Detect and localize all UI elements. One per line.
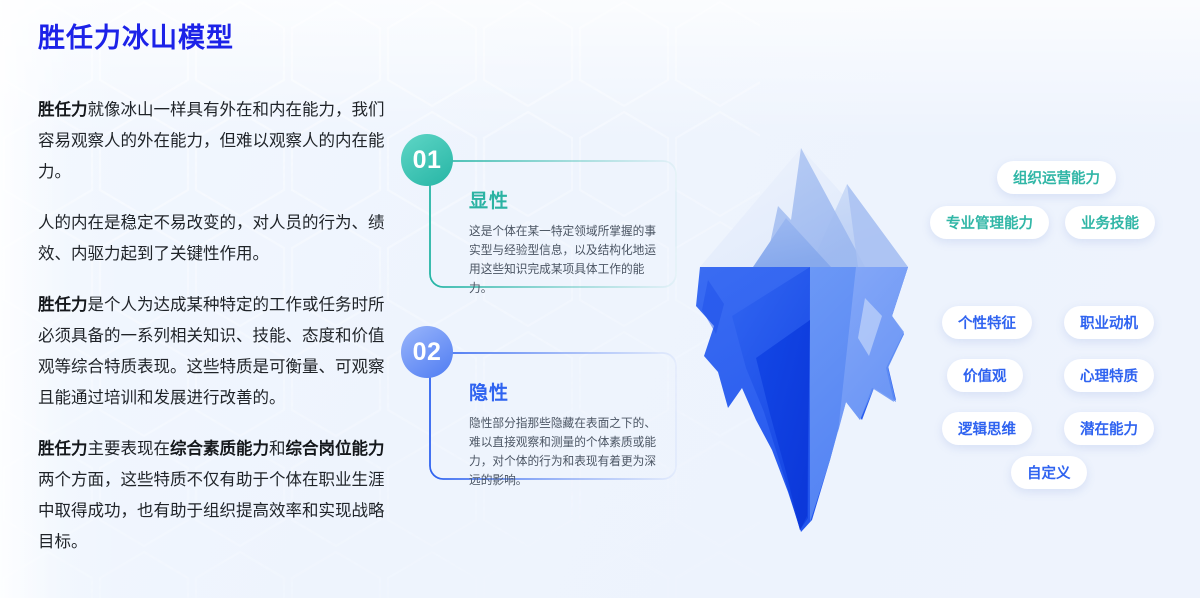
paragraph-4-lead: 胜任力 xyxy=(38,440,88,458)
tag-explicit-2[interactable]: 业务技能 xyxy=(1065,206,1155,239)
implicit-competency-card[interactable]: 02 隐性 隐性部分指那些隐藏在表面之下的、难以直接观察和测量的个体素质或能力，… xyxy=(429,352,677,480)
paragraph-1-lead: 胜任力 xyxy=(38,101,88,119)
paragraph-3-lead: 胜任力 xyxy=(38,296,88,314)
card-text-explicit: 这是个体在某一特定领域所掌握的事实型与经验型信息，以及结构化地运用这些知识完成某… xyxy=(469,222,659,298)
tag-implicit-5[interactable]: 潜在能力 xyxy=(1064,412,1154,445)
tag-explicit-0[interactable]: 组织运营能力 xyxy=(997,161,1116,194)
card-text-implicit: 隐性部分指那些隐藏在表面之下的、难以直接观察和测量的个体素质或能力，对个体的行为… xyxy=(469,414,659,490)
explicit-competency-card[interactable]: 01 显性 这是个体在某一特定领域所掌握的事实型与经验型信息，以及结构化地运用这… xyxy=(429,160,677,288)
paragraph-2-body: 人的内在是稳定不易改变的，对人员的行为、绩效、内驱力起到了关键性作用。 xyxy=(38,214,385,263)
iceberg-below-water xyxy=(696,267,908,532)
paragraph-3-body: 是个人为达成某种特定的工作或任务时所必须具备的一系列相关知识、技能、态度和价值观… xyxy=(38,296,385,407)
tag-implicit-2[interactable]: 价值观 xyxy=(947,359,1023,392)
paragraph-2: 人的内在是稳定不易改变的，对人员的行为、绩效、内驱力起到了关键性作用。 xyxy=(38,208,400,270)
iceberg-above-water xyxy=(700,148,908,267)
tag-implicit-3[interactable]: 心理特质 xyxy=(1064,359,1154,392)
card-title-explicit: 显性 xyxy=(469,186,659,213)
card-number-badge-02: 02 xyxy=(401,326,453,378)
paragraph-4: 胜任力主要表现在综合素质能力和综合岗位能力两个方面，这些特质不仅有助于个体在职业… xyxy=(38,434,400,558)
tag-implicit-0[interactable]: 个性特征 xyxy=(942,306,1032,339)
iceberg-illustration xyxy=(660,120,960,550)
tag-implicit-6[interactable]: 自定义 xyxy=(1011,456,1087,489)
page-title: 胜任力冰山模型 xyxy=(38,16,234,55)
tag-explicit-1[interactable]: 专业管理能力 xyxy=(930,206,1049,239)
paragraph-1: 胜任力就像冰山一样具有外在和内在能力，我们容易观察人的外在能力，但难以观察人的内… xyxy=(38,95,400,188)
paragraph-1-body: 就像冰山一样具有外在和内在能力，我们容易观察人的外在能力，但难以观察人的内在能力… xyxy=(38,101,385,181)
tag-implicit-4[interactable]: 逻辑思维 xyxy=(942,412,1032,445)
paragraph-4-body: 主要表现在综合素质能力和综合岗位能力两个方面，这些特质不仅有助于个体在职业生涯中… xyxy=(38,440,385,551)
paragraph-3: 胜任力是个人为达成某种特定的工作或任务时所必须具备的一系列相关知识、技能、态度和… xyxy=(38,290,400,414)
tag-implicit-1[interactable]: 职业动机 xyxy=(1064,306,1154,339)
card-number-badge-01: 01 xyxy=(401,134,453,186)
card-title-implicit: 隐性 xyxy=(469,378,659,405)
intro-copy: 胜任力就像冰山一样具有外在和内在能力，我们容易观察人的外在能力，但难以观察人的内… xyxy=(38,95,400,558)
